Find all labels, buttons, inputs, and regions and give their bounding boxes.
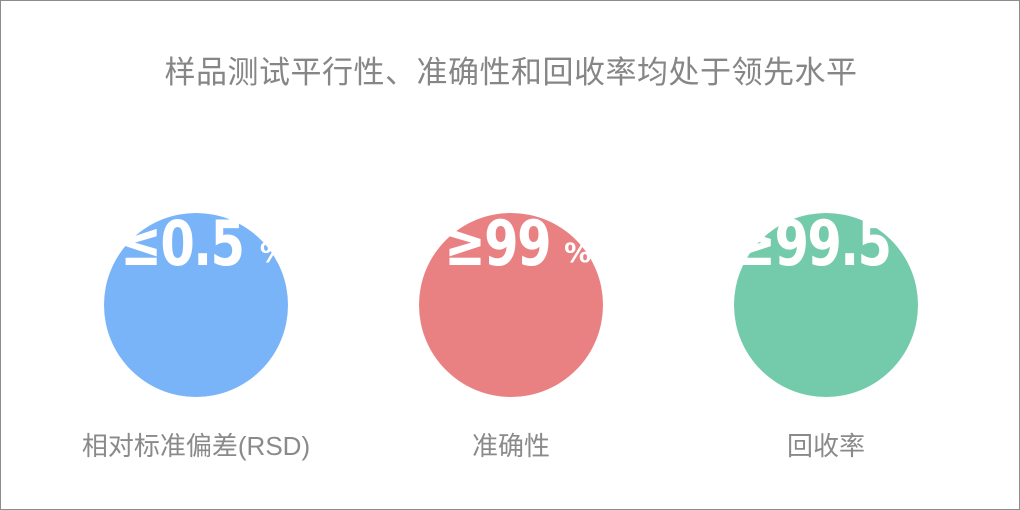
stat-label-rsd: 相对标准偏差(RSD) <box>82 430 310 462</box>
stat-unit-recovery: % <box>910 240 937 267</box>
stat-item-recovery: ≥99.5 % 回收率 <box>681 213 971 462</box>
stat-label-accuracy: 准确性 <box>472 430 550 462</box>
stat-value-recovery: ≥99.5 <box>734 213 890 275</box>
stat-bubble-rsd: ≤0.5 % <box>104 213 288 397</box>
stat-item-rsd: ≤0.5 % 相对标准偏差(RSD) <box>51 213 341 462</box>
stat-label-recovery: 回收率 <box>787 430 865 462</box>
page-title: 样品测试平行性、准确性和回收率均处于领先水平 <box>1 53 1020 93</box>
stat-bubble-accuracy: ≥99 % <box>419 213 603 397</box>
stat-item-accuracy: ≥99 % 准确性 <box>366 213 656 462</box>
stats-row: ≤0.5 % 相对标准偏差(RSD) ≥99 % 准确性 ≥99.5 % 回收率 <box>51 213 971 473</box>
stat-bubble-recovery: ≥99.5 % <box>734 213 918 397</box>
infographic-canvas: 样品测试平行性、准确性和回收率均处于领先水平 ≤0.5 % 相对标准偏差(RSD… <box>0 0 1020 510</box>
stat-value-rsd: ≤0.5 <box>120 213 243 275</box>
stat-unit-rsd: % <box>260 240 287 267</box>
stat-value-accuracy: ≥99 <box>444 213 550 275</box>
stat-unit-accuracy: % <box>564 240 591 267</box>
